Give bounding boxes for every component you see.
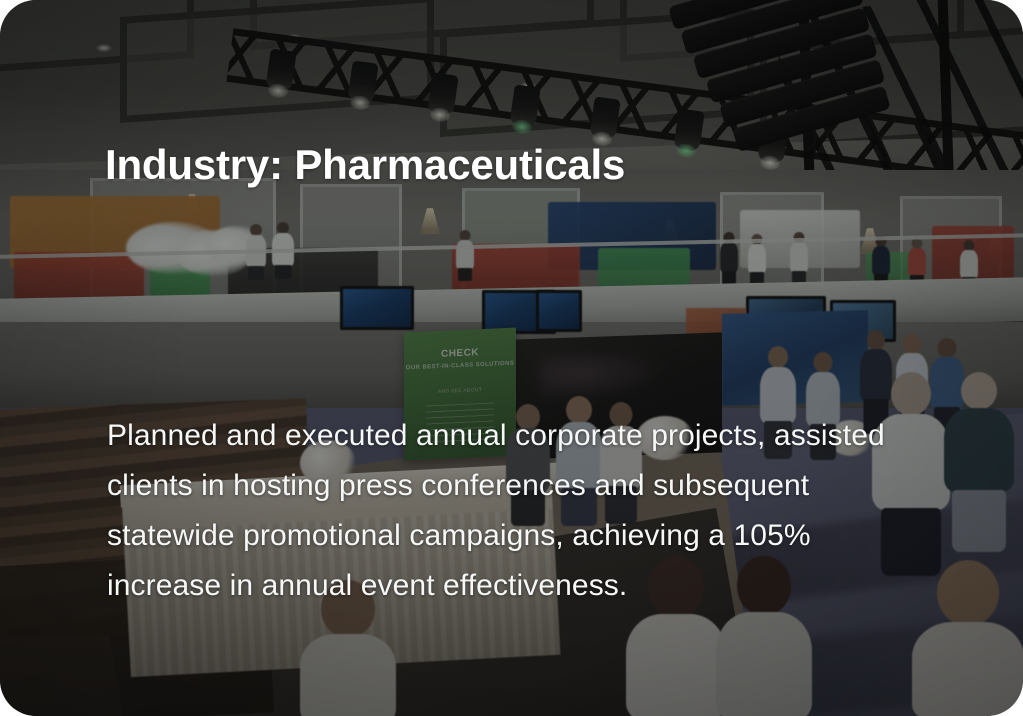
card-content: Industry: Pharmaceuticals Planned and ex…: [0, 0, 1023, 716]
card-description: Planned and executed annual corporate pr…: [107, 411, 917, 611]
card-title: Industry: Pharmaceuticals: [105, 139, 625, 191]
industry-highlight-card: CHECK OUR BEST-IN-CLASS SOLUTIONS AND SE…: [0, 0, 1023, 716]
